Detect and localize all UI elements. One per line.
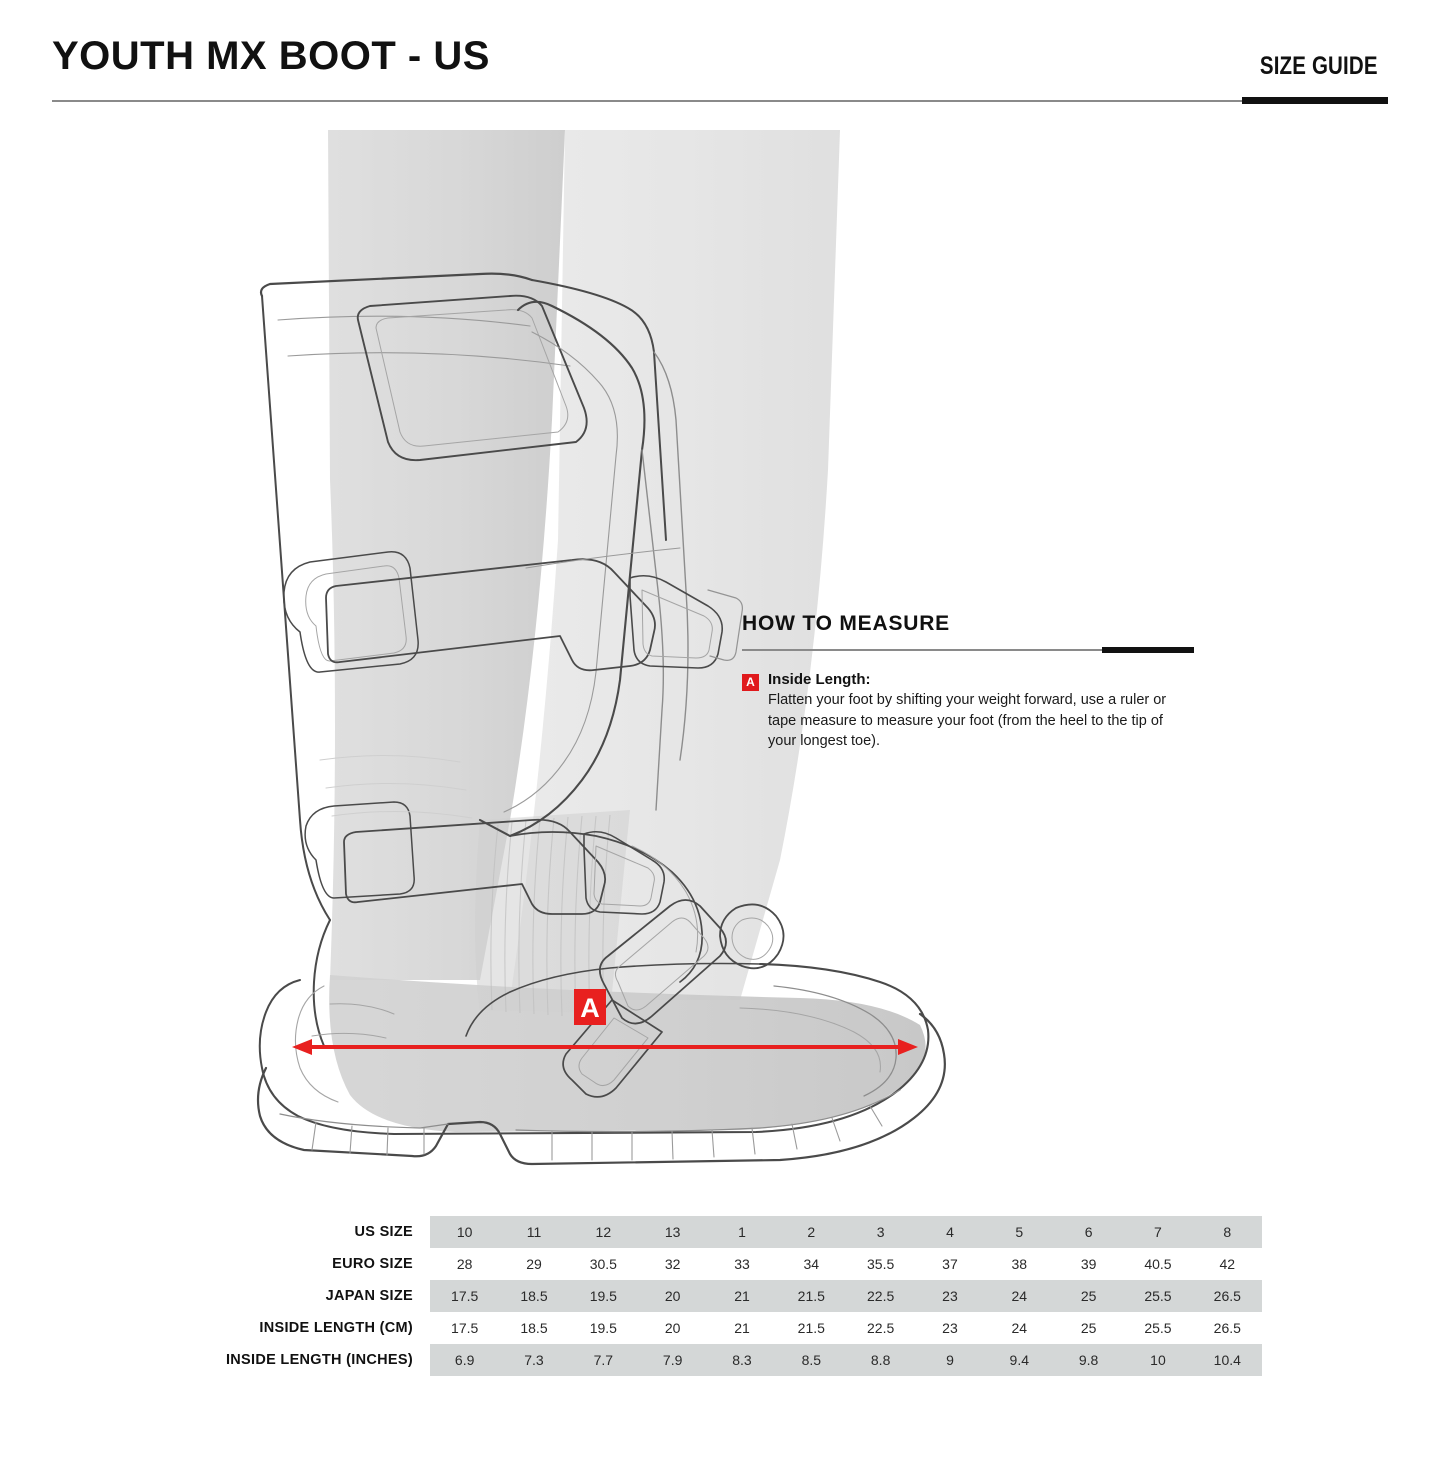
table-cell: 28: [430, 1248, 499, 1280]
table-row-label: INSIDE LENGTH (CM): [52, 1312, 430, 1344]
table-cell: 3: [846, 1216, 915, 1248]
table-cell: 42: [1193, 1248, 1262, 1280]
table-cell: 25.5: [1123, 1312, 1192, 1344]
table-cell: 22.5: [846, 1312, 915, 1344]
table-row: JAPAN SIZE17.518.519.5202121.522.5232425…: [52, 1280, 1262, 1312]
table-cell: 24: [985, 1312, 1054, 1344]
table-row: INSIDE LENGTH (INCHES)6.97.37.77.98.38.5…: [52, 1344, 1262, 1376]
table-cell: 18.5: [499, 1312, 568, 1344]
table-cell: 30.5: [569, 1248, 638, 1280]
table-cell: 5: [985, 1216, 1054, 1248]
table-row-label: JAPAN SIZE: [52, 1280, 430, 1312]
table-cell: 11: [499, 1216, 568, 1248]
table-cell: 40.5: [1123, 1248, 1192, 1280]
how-to-measure-panel: HOW TO MEASURE A Inside Length: Flatten …: [742, 612, 1194, 752]
table-cell: 6: [1054, 1216, 1123, 1248]
table-cell: 4: [915, 1216, 984, 1248]
table-cell: 10: [430, 1216, 499, 1248]
table-cell: 7.7: [569, 1344, 638, 1376]
table-cell: 21.5: [777, 1280, 846, 1312]
table-row-label: EURO SIZE: [52, 1248, 430, 1280]
table-cell: 9.4: [985, 1344, 1054, 1376]
table-cell: 7: [1123, 1216, 1192, 1248]
table-cell: 8.8: [846, 1344, 915, 1376]
table-cell: 1: [707, 1216, 776, 1248]
table-cell: 24: [985, 1280, 1054, 1312]
how-to-measure-divider-wrap: [742, 647, 1194, 655]
table-cell: 13: [638, 1216, 707, 1248]
header-divider-accent: [1242, 97, 1388, 104]
measure-entry-inside-length: A Inside Length: Flatten your foot by sh…: [742, 671, 1194, 752]
table-row: US SIZE1011121312345678: [52, 1216, 1262, 1248]
table-cell: 6.9: [430, 1344, 499, 1376]
how-to-measure-divider-accent: [1102, 647, 1194, 653]
svg-text:A: A: [580, 993, 600, 1023]
table-cell: 19.5: [569, 1312, 638, 1344]
table-cell: 21.5: [777, 1312, 846, 1344]
header-divider: [52, 100, 1388, 102]
table-cell: 17.5: [430, 1280, 499, 1312]
table-cell: 8.3: [707, 1344, 776, 1376]
size-guide-label: SIZE GUIDE: [1260, 52, 1378, 81]
table-cell: 20: [638, 1312, 707, 1344]
table-cell: 26.5: [1193, 1280, 1262, 1312]
table-cell: 37: [915, 1248, 984, 1280]
table-row: EURO SIZE282930.532333435.537383940.542: [52, 1248, 1262, 1280]
table-cell: 38: [985, 1248, 1054, 1280]
table-cell: 25: [1054, 1312, 1123, 1344]
table-cell: 18.5: [499, 1280, 568, 1312]
page-header: YOUTH MX BOOT - US SIZE GUIDE: [0, 0, 1440, 110]
measure-entry-term: Inside Length:: [768, 671, 1194, 688]
table-cell: 21: [707, 1280, 776, 1312]
table-cell: 26.5: [1193, 1312, 1262, 1344]
table-cell: 39: [1054, 1248, 1123, 1280]
table-cell: 23: [915, 1312, 984, 1344]
measure-badge-a-icon: A: [742, 674, 759, 691]
table-cell: 12: [569, 1216, 638, 1248]
measure-badge-a: A: [574, 989, 606, 1025]
size-chart-table: US SIZE1011121312345678EURO SIZE282930.5…: [52, 1216, 1262, 1376]
table-cell: 23: [915, 1280, 984, 1312]
table-cell: 21: [707, 1312, 776, 1344]
table-cell: 22.5: [846, 1280, 915, 1312]
table-cell: 19.5: [569, 1280, 638, 1312]
table-row-label: US SIZE: [52, 1216, 430, 1248]
measure-entry-text: Inside Length: Flatten your foot by shif…: [768, 671, 1194, 752]
how-to-measure-title: HOW TO MEASURE: [742, 612, 1194, 636]
table-cell: 9.8: [1054, 1344, 1123, 1376]
page-title: YOUTH MX BOOT - US: [52, 34, 490, 79]
table-cell: 10: [1123, 1344, 1192, 1376]
table-cell: 32: [638, 1248, 707, 1280]
table-cell: 33: [707, 1248, 776, 1280]
table-cell: 25.5: [1123, 1280, 1192, 1312]
table-cell: 20: [638, 1280, 707, 1312]
table-cell: 29: [499, 1248, 568, 1280]
table-cell: 25: [1054, 1280, 1123, 1312]
table-cell: 2: [777, 1216, 846, 1248]
table-cell: 7.9: [638, 1344, 707, 1376]
table-cell: 8.5: [777, 1344, 846, 1376]
table-cell: 10.4: [1193, 1344, 1262, 1376]
table-cell: 35.5: [846, 1248, 915, 1280]
table-cell: 9: [915, 1344, 984, 1376]
table-row-label: INSIDE LENGTH (INCHES): [52, 1344, 430, 1376]
table-cell: 17.5: [430, 1312, 499, 1344]
table-cell: 8: [1193, 1216, 1262, 1248]
measure-entry-description: Flatten your foot by shifting your weigh…: [768, 690, 1194, 752]
size-chart-body: US SIZE1011121312345678EURO SIZE282930.5…: [52, 1216, 1262, 1376]
table-cell: 7.3: [499, 1344, 568, 1376]
table-row: INSIDE LENGTH (CM)17.518.519.5202121.522…: [52, 1312, 1262, 1344]
table-cell: 34: [777, 1248, 846, 1280]
